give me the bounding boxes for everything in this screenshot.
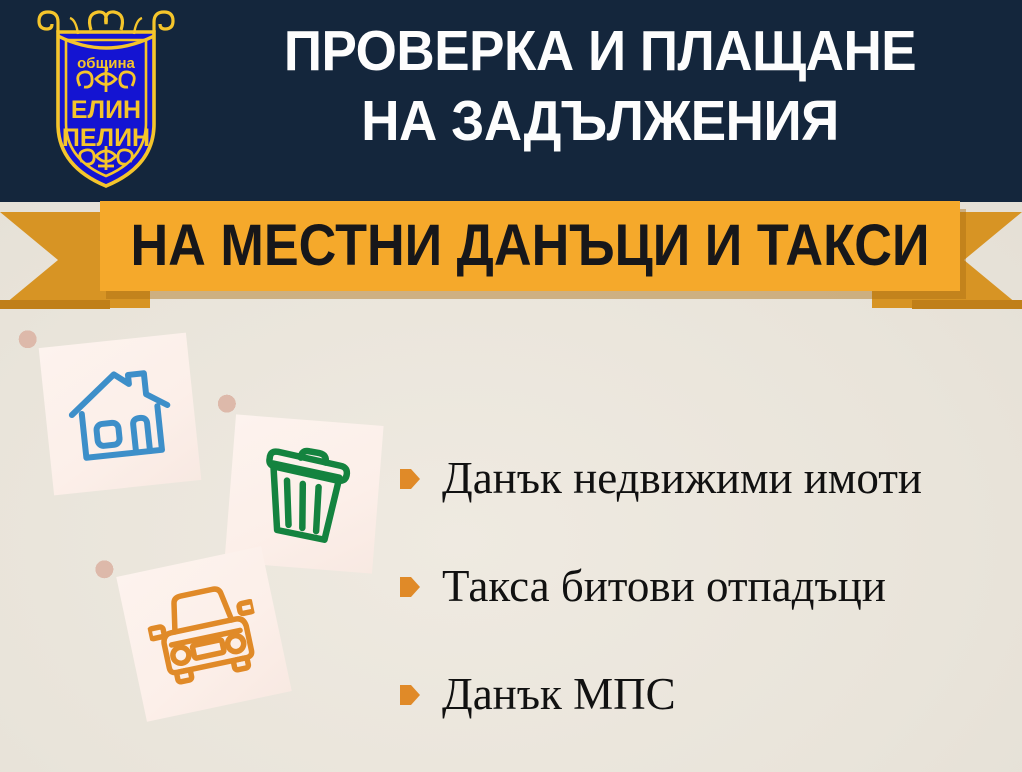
list-item-label: Данък недвижими имоти — [442, 454, 922, 502]
arrow-bullet-icon — [400, 468, 420, 490]
crest-name-line1: ЕЛИН — [71, 96, 141, 124]
tax-type-list: Данък недвижими имоти Такса битови отпад… — [400, 424, 1010, 748]
header-title-block: ПРОВЕРКА И ПЛАЩАНЕ НА ЗАДЪЛЖЕНИЯ — [186, 16, 1014, 156]
list-item: Данък МПС — [400, 640, 1010, 748]
house-icon — [63, 361, 176, 467]
header-banner: община ЕЛИН ПЕЛИН — [0, 0, 1022, 202]
poster-canvas: община ЕЛИН ПЕЛИН — [0, 0, 1022, 772]
ribbon-text: НА МЕСТНИ ДАНЪЦИ И ТАКСИ — [143, 201, 917, 291]
stamp-paper — [39, 333, 202, 496]
arrow-bullet-icon — [400, 684, 420, 706]
stamp-card-property — [14, 308, 225, 519]
ribbon-fold-right — [912, 300, 1022, 309]
list-item: Такса битови отпадъци — [400, 532, 1010, 640]
coat-of-arms: община ЕЛИН ПЕЛИН — [36, 6, 176, 192]
ribbon-banner: НА МЕСТНИ ДАНЪЦИ И ТАКСИ — [0, 196, 1022, 308]
arrow-bullet-icon — [400, 576, 420, 598]
stamp-card-vehicle — [90, 520, 318, 748]
list-item-label: Данък МПС — [442, 670, 676, 718]
list-item-label: Такса битови отпадъци — [442, 562, 886, 610]
header-title-line-1: ПРОВЕРКА И ПЛАЩАНЕ — [215, 16, 985, 86]
ribbon-center-panel: НА МЕСТНИ ДАНЪЦИ И ТАКСИ — [100, 201, 960, 291]
stamp-paper — [116, 546, 292, 722]
list-item: Данък недвижими имоти — [400, 424, 1010, 532]
ribbon-fold-left — [0, 300, 110, 309]
car-front-icon — [142, 578, 267, 690]
header-title-line-2: НА ЗАДЪЛЖЕНИЯ — [215, 86, 985, 156]
